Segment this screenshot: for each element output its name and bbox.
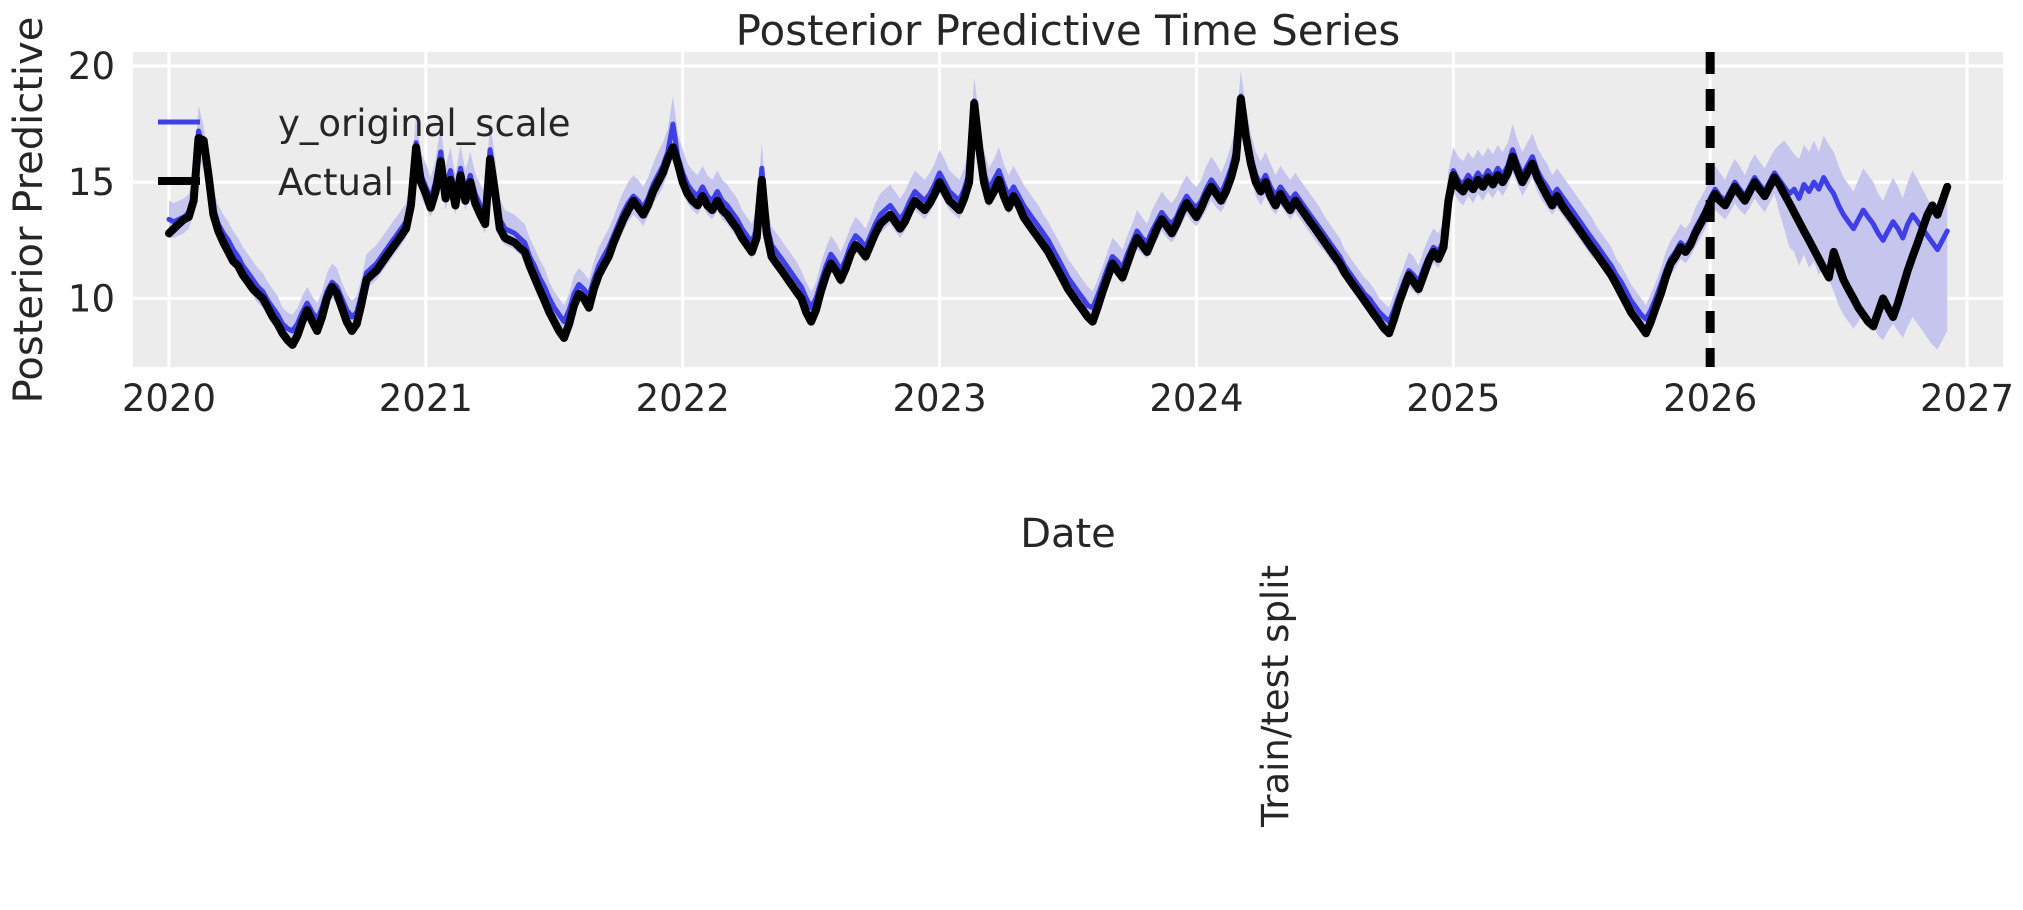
y-axis-tick-labels: 101520 (68, 45, 115, 320)
x-tick-label: 2022 (636, 377, 730, 420)
legend-label-actual: Actual (278, 161, 394, 204)
y-tick-label: 15 (68, 161, 115, 204)
posterior-predictive-chart: 20202021202220232024202520262027 101520 … (0, 0, 2023, 910)
y-axis-title: Posterior Predictive (6, 17, 52, 404)
y-tick-label: 10 (68, 277, 115, 320)
x-tick-label: 2023 (892, 377, 986, 420)
x-tick-label: 2020 (122, 377, 216, 420)
chart-title: Posterior Predictive Time Series (736, 6, 1401, 55)
x-tick-label: 2021 (379, 377, 473, 420)
x-axis-title: Date (1020, 511, 1116, 557)
x-tick-label: 2024 (1149, 377, 1243, 420)
chart-figure: 20202021202220232024202520262027 101520 … (0, 0, 2023, 910)
x-axis-tick-labels: 20202021202220232024202520262027 (122, 377, 2014, 420)
x-tick-label: 2027 (1920, 377, 2014, 420)
x-tick-label: 2026 (1663, 377, 1757, 420)
y-tick-label: 20 (68, 45, 115, 88)
legend-label-y-original-scale: y_original_scale (278, 102, 571, 145)
x-tick-label: 2025 (1406, 377, 1500, 420)
train-test-split-label: Train/test split (1254, 565, 1297, 828)
